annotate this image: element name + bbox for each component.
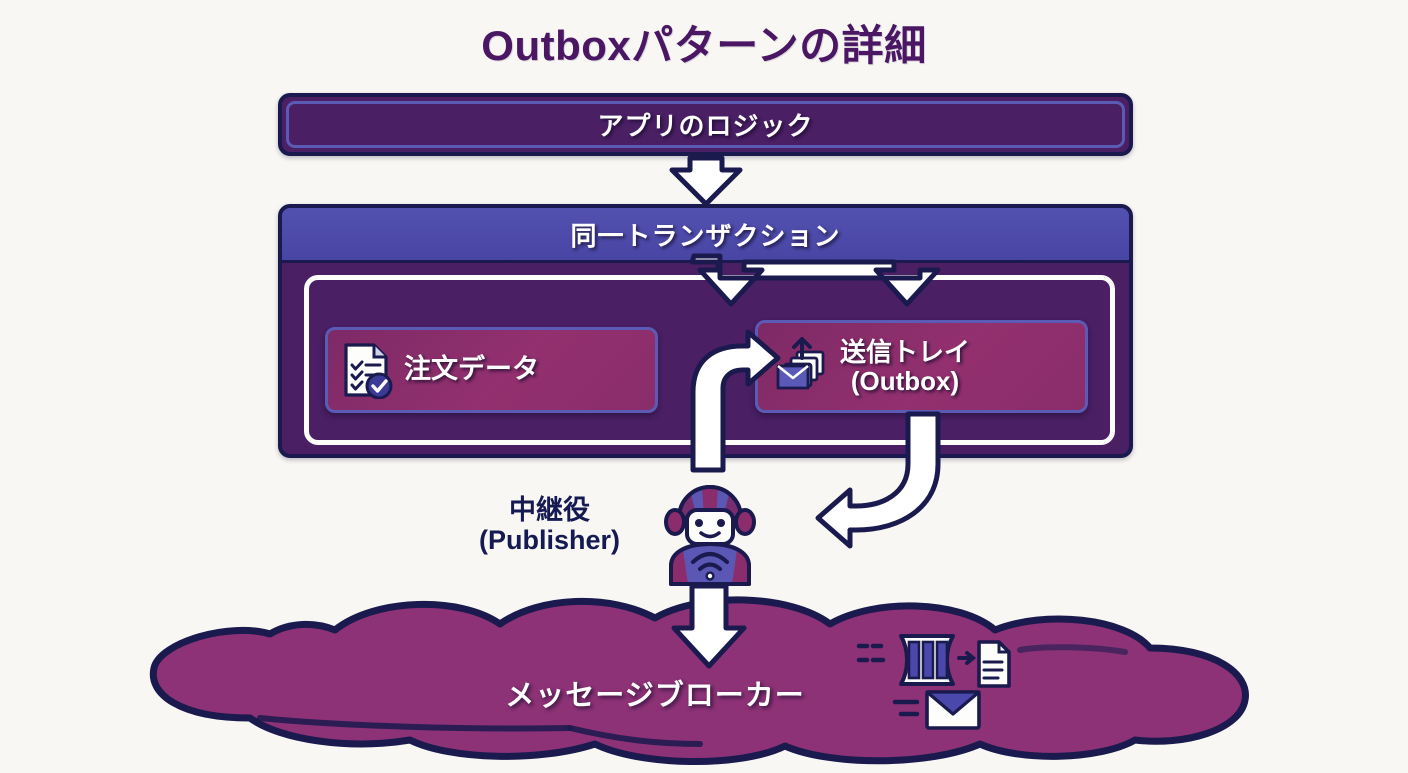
outbox-box: 送信トレイ (Outbox)	[755, 320, 1088, 413]
publisher-label-line2: (Publisher)	[479, 525, 620, 555]
dashes-icon-2	[895, 702, 917, 714]
outbox-label-line2: (Outbox)	[851, 366, 959, 396]
robot-icon	[655, 470, 765, 588]
outbox-label-line1: 送信トレイ	[840, 337, 970, 367]
queue-icon	[901, 636, 953, 684]
order-data-label: 注文データ	[404, 355, 539, 384]
outbox-label: 送信トレイ (Outbox)	[840, 338, 970, 394]
outbox-envelopes-icon	[772, 336, 832, 398]
diagram-canvas: Outboxパターンの詳細 アプリのロジック 同一トランザクション 注文データ	[0, 0, 1408, 768]
envelope-icon	[927, 692, 979, 728]
publisher-label: 中継役 (Publisher)	[447, 495, 652, 555]
flow-arrow-icon	[959, 653, 973, 663]
app-logic-box: アプリのロジック	[278, 93, 1133, 156]
broker-icons-group	[855, 630, 1035, 735]
document-check-icon	[342, 341, 394, 399]
app-logic-label: アプリのロジック	[282, 97, 1129, 152]
message-broker-label: メッセージブローカー	[430, 672, 880, 714]
dashes-icon	[859, 646, 883, 660]
order-data-box: 注文データ	[325, 327, 658, 413]
transaction-header: 同一トランザクション	[282, 208, 1129, 263]
document-icon	[979, 642, 1009, 686]
publisher-label-line1: 中継役	[509, 495, 590, 525]
page-title: Outboxパターンの詳細	[0, 12, 1408, 73]
arrow-app-to-transaction	[672, 158, 740, 204]
